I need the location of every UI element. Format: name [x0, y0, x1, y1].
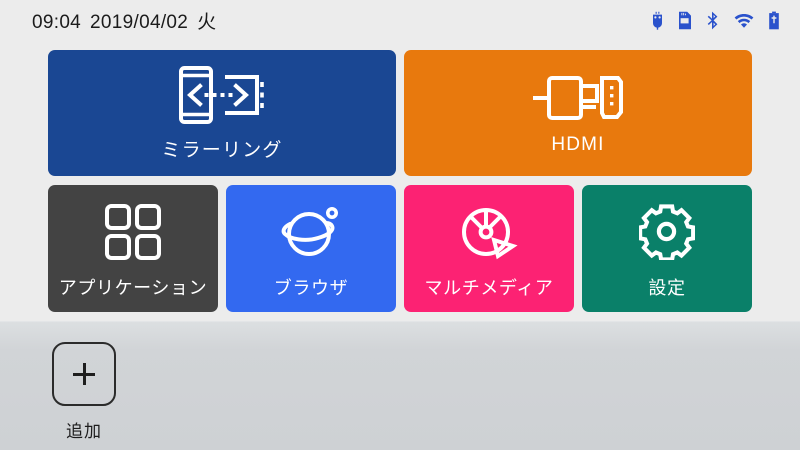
- tile-label-hdmi: HDMI: [551, 134, 604, 156]
- planet-browser-icon: [281, 204, 341, 260]
- bottom-dock: 追加: [0, 321, 800, 450]
- tile-mirroring[interactable]: ミラーリング: [48, 50, 396, 176]
- tile-label-applications: アプリケーション: [59, 274, 207, 300]
- tile-browser[interactable]: ブラウザ: [226, 185, 396, 312]
- clock-weekday: 火: [197, 7, 216, 34]
- bluetooth-icon: [706, 11, 720, 30]
- tile-grid: ミラーリング: [0, 40, 800, 321]
- wifi-icon: [734, 11, 754, 30]
- apps-grid-icon: [105, 204, 161, 260]
- tile-settings[interactable]: 設定: [582, 185, 752, 312]
- launcher-home-screen: 09:04 2019/04/02 火: [0, 0, 800, 450]
- tile-row-top: ミラーリング: [48, 50, 752, 176]
- media-disc-icon: [460, 204, 518, 260]
- screen-mirroring-icon: [178, 66, 266, 124]
- clock-time: 09:04: [32, 12, 81, 34]
- add-shortcut-label: 追加: [66, 417, 102, 442]
- usb-icon: [651, 11, 664, 30]
- tile-multimedia[interactable]: マルチメディア: [404, 185, 574, 312]
- gear-icon: [639, 204, 695, 260]
- add-shortcut-button[interactable]: 追加: [48, 342, 120, 442]
- clock-date: 2019/04/02: [90, 12, 188, 34]
- tile-label-mirroring: ミラーリング: [161, 135, 282, 162]
- status-tray: [651, 11, 786, 30]
- battery-icon: [768, 11, 780, 30]
- tile-applications[interactable]: アプリケーション: [48, 185, 218, 312]
- tile-label-multimedia: マルチメディア: [425, 274, 554, 300]
- tile-row-bottom: アプリケーション ブラウザ: [48, 185, 752, 312]
- hdmi-connector-icon: [532, 73, 624, 123]
- tile-label-browser: ブラウザ: [274, 274, 348, 300]
- clock: 09:04 2019/04/02 火: [32, 7, 216, 34]
- tile-hdmi[interactable]: HDMI: [404, 50, 752, 176]
- plus-icon: [73, 363, 95, 385]
- status-bar: 09:04 2019/04/02 火: [0, 0, 800, 40]
- tile-label-settings: 設定: [648, 274, 685, 300]
- sd-card-icon: [678, 11, 692, 30]
- add-button-box[interactable]: [52, 342, 116, 406]
